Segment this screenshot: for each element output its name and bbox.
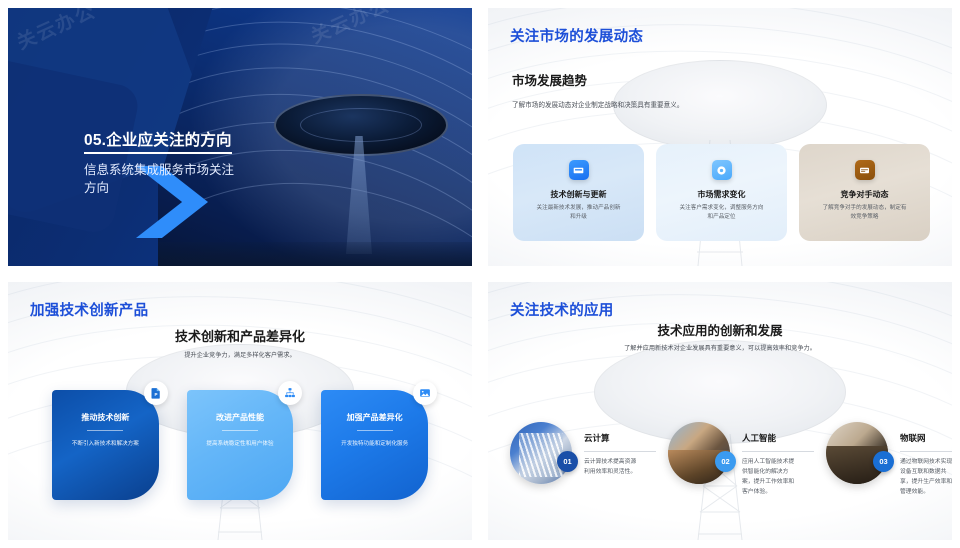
card-icon [855,160,875,180]
tech-application-canvas: 关注技术的应用 技术应用的创新和发展 了解并应用新技术对企业发展具有重要意义，可… [488,282,952,540]
image-icon [413,381,437,405]
application-item-3-desc: 通过物联网技术实现设备互联和数据共享，提升生产效率和管理效能。 [900,458,952,497]
target-icon [712,160,732,180]
innovation-card-1-title: 推动技术创新 [81,412,129,423]
application-item-2[interactable]: 02 人工智能 应用人工智能技术提供智能化的解决方案，提升工作效率和客户体验。 [668,422,814,497]
tech-innovation-canvas: 加强技术创新产品 技术创新和产品差异化 提升企业竞争力，满足多样化客户需求。 P… [8,282,472,540]
divider [742,451,814,452]
inbox-icon [569,160,589,180]
heading-innovation: 技术创新和产品差异化 [8,326,472,345]
innovation-card-2[interactable]: 改进产品性能 提高系统稳定性和用户体验 [187,390,294,500]
description-market: 了解市场的发展动态对企业制定战略和决策具有重要意义。 [512,101,892,111]
item-number-3: 03 [873,451,894,472]
innovation-card-1-desc: 不断引入新技术和解决方案 [66,440,144,449]
photo-wrap: 03 [826,422,888,484]
market-card-2-desc: 关注客户需求变化，调整服务方向和产品定位 [679,204,765,221]
application-item-2-title: 人工智能 [742,432,814,444]
divider [584,451,656,452]
innovation-card-2-title: 改进产品性能 [216,412,264,423]
application-item-3[interactable]: 03 物联网 通过物联网技术实现设备互联和数据共享，提升生产效率和管理效能。 [826,422,952,497]
powerpoint-file-icon: P [144,381,168,405]
market-card-list: 技术创新与更新 关注最新技术发展，推动产品创新和升级 市场需求变化 关注客户需求… [513,144,930,241]
innovation-card-list: P 推动技术创新 不断引入新技术和解决方案 改进产品性能 提高系统稳定性和用户体… [52,390,428,500]
divider [222,430,258,431]
slide-market-trends[interactable]: 关注市场的发展动态 市场发展趋势 了解市场的发展动态对企业制定战略和决策具有重要… [480,0,960,274]
slide-header-market: 关注市场的发展动态 [510,25,643,46]
horizon-band [148,242,472,266]
innovation-card-3-desc: 开发独特功能和定制化服务 [336,440,414,449]
item-number-1: 01 [557,451,578,472]
divider [900,451,952,452]
cover-subtitle: 信息系统集成服务市场关注方向 [84,161,244,197]
slide-header-innovation: 加强技术创新产品 [30,299,148,320]
photo-wrap: 02 [668,422,730,484]
innovation-card-2-desc: 提高系统稳定性和用户体验 [201,440,279,449]
heading-application: 技术应用的创新和发展 [488,320,952,339]
sitemap-icon [278,381,302,405]
market-card-1-desc: 关注最新技术发展，推动产品创新和升级 [536,204,622,221]
description-application: 了解并应用新技术对企业发展具有重要意义，可以提高效率和竞争力。 [554,344,886,353]
slide-header-application: 关注技术的应用 [510,299,614,320]
slide-tech-application[interactable]: 关注技术的应用 技术应用的创新和发展 了解并应用新技术对企业发展具有重要意义，可… [480,274,960,548]
cover-text-block: 05.企业应关注的方向 信息系统集成服务市场关注方向 [84,128,334,197]
application-item-list: 01 云计算 云计算技术提高资源利用效率和灵活性。 02 人工智能 [510,422,930,497]
item-number-2: 02 [715,451,736,472]
innovation-card-3-title: 加强产品差异化 [347,412,403,423]
item-text: 云计算 云计算技术提高资源利用效率和灵活性。 [584,422,656,478]
item-text: 人工智能 应用人工智能技术提供智能化的解决方案，提升工作效率和客户体验。 [742,422,814,497]
svg-text:P: P [154,392,157,397]
slide-deck: 关云办公 关云办公 05.企业应关注的方向 信息系统集成服务市场关注方向 [0,0,960,548]
innovation-card-1[interactable]: P 推动技术创新 不断引入新技术和解决方案 [52,390,159,500]
cover-title: 05.企业应关注的方向 [84,128,232,154]
market-card-2[interactable]: 市场需求变化 关注客户需求变化，调整服务方向和产品定位 [656,144,787,241]
market-card-3-desc: 了解竞争对手的发展动态，制定有效竞争策略 [822,204,908,221]
innovation-card-3[interactable]: 加强产品差异化 开发独特功能和定制化服务 [321,390,428,500]
application-item-1-desc: 云计算技术提高资源利用效率和灵活性。 [584,458,640,478]
cover-canvas: 关云办公 关云办公 05.企业应关注的方向 信息系统集成服务市场关注方向 [8,8,472,266]
divider [87,430,123,431]
application-item-3-title: 物联网 [900,432,952,444]
divider [357,430,393,431]
slide-cover[interactable]: 关云办公 关云办公 05.企业应关注的方向 信息系统集成服务市场关注方向 [0,0,480,274]
application-item-1-title: 云计算 [584,432,656,444]
heading-market: 市场发展趋势 [512,70,587,89]
market-trends-canvas: 关注市场的发展动态 市场发展趋势 了解市场的发展动态对企业制定战略和决策具有重要… [488,8,952,266]
market-card-1[interactable]: 技术创新与更新 关注最新技术发展，推动产品创新和升级 [513,144,644,241]
application-item-2-desc: 应用人工智能技术提供智能化的解决方案，提升工作效率和客户体验。 [742,458,798,497]
market-card-2-title: 市场需求变化 [698,189,746,200]
market-card-3-title: 竞争对手动态 [841,189,889,200]
slide-tech-innovation[interactable]: 加强技术创新产品 技术创新和产品差异化 提升企业竞争力，满足多样化客户需求。 P… [0,274,480,548]
application-item-1[interactable]: 01 云计算 云计算技术提高资源利用效率和灵活性。 [510,422,656,497]
photo-wrap: 01 [510,422,572,484]
market-card-3[interactable]: 竞争对手动态 了解竞争对手的发展动态，制定有效竞争策略 [799,144,930,241]
description-innovation: 提升企业竞争力，满足多样化客户需求。 [8,351,472,360]
item-text: 物联网 通过物联网技术实现设备互联和数据共享，提升生产效率和管理效能。 [900,422,952,497]
market-card-1-title: 技术创新与更新 [551,189,607,200]
